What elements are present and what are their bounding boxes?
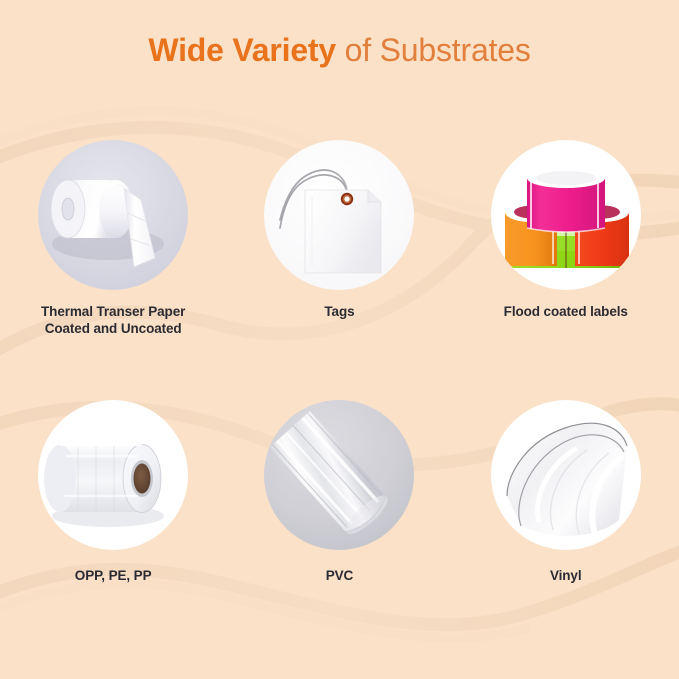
ribbon-soft-b (0, 584, 530, 638)
pvc-sheet-thumb (264, 400, 414, 550)
substrate-row-top: Thermal Transer Paper Coated and Uncoate… (0, 140, 679, 338)
substrate-item-thermal-transfer-paper[interactable]: Thermal Transer Paper Coated and Uncoate… (0, 140, 226, 338)
page-title: Wide Variety of Substrates (148, 34, 530, 66)
page-header: Wide Variety of Substrates (0, 0, 679, 100)
flood-coated-label-rolls-thumb (491, 140, 641, 290)
substrate-item-tags[interactable]: Tags (226, 140, 452, 338)
stretch-film-roll (44, 444, 161, 512)
substrate-caption: Tags (324, 304, 354, 321)
tag-eyelet (341, 193, 353, 205)
substrate-item-flood-coated-labels[interactable]: Flood coated labels (453, 140, 679, 338)
substrate-grid: Thermal Transer Paper Coated and Uncoate… (0, 140, 679, 585)
substrate-caption: Thermal Transer Paper Coated and Uncoate… (41, 304, 185, 338)
page-title-light: of Substrates (336, 32, 531, 68)
vinyl-film-thumb (491, 400, 641, 550)
substrate-row-bottom: OPP, PE, PP (0, 400, 679, 585)
substrate-item-vinyl[interactable]: Vinyl (453, 400, 679, 585)
label-roll-pink (527, 168, 605, 232)
substrate-caption: Vinyl (550, 568, 582, 585)
paper-tag-thumb (264, 140, 414, 290)
page-title-strong: Wide Variety (148, 32, 336, 68)
substrate-item-opp-pe-pp[interactable]: OPP, PE, PP (0, 400, 226, 585)
film-core (134, 463, 151, 493)
substrate-caption: OPP, PE, PP (75, 568, 152, 585)
substrate-caption: PVC (326, 568, 353, 585)
stretch-film-roll-thumb (38, 400, 188, 550)
label-roll (51, 180, 133, 238)
substrate-caption: Flood coated labels (504, 304, 628, 321)
thermal-paper-roll-thumb (38, 140, 188, 290)
substrate-item-pvc[interactable]: PVC (226, 400, 452, 585)
